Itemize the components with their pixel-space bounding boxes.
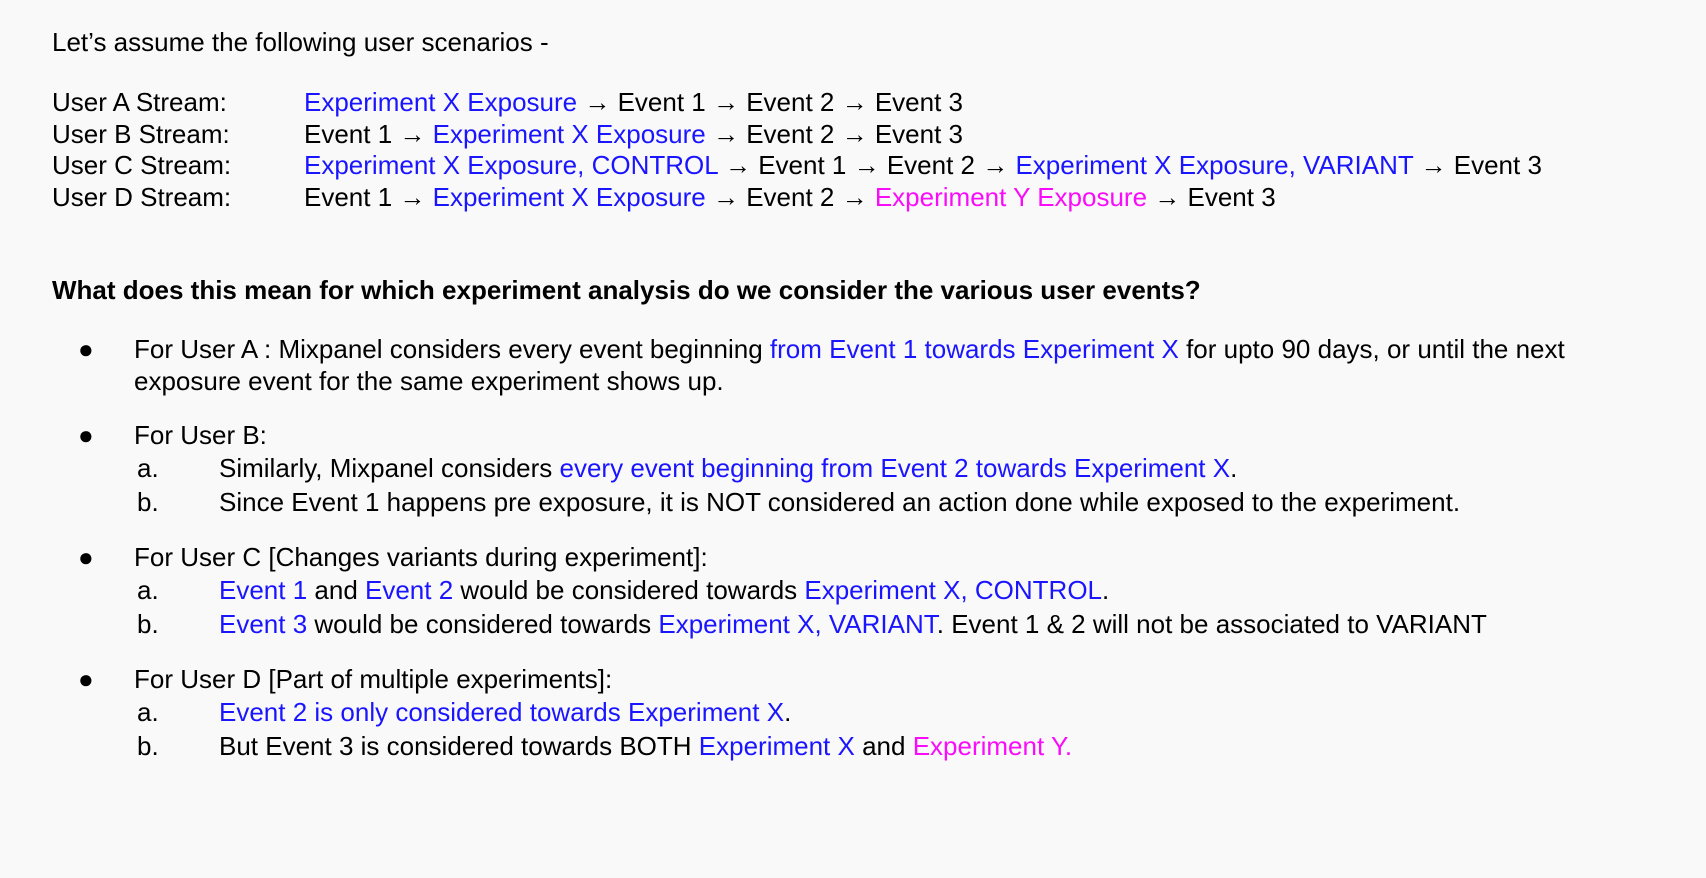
stream-0-segment-5: →: [834, 87, 874, 117]
section-heading: What does this mean for which experiment…: [52, 273, 1201, 307]
bullet-3-sub-1-segment-2: and: [855, 731, 913, 761]
stream-2-segment-2: Event 1: [758, 150, 846, 180]
stream-row: User D Stream:Event 1 → Experiment X Exp…: [52, 182, 1542, 214]
stream-row: User B Stream:Event 1 → Experiment X Exp…: [52, 119, 1542, 151]
bullet-row: ●For User B:: [52, 419, 1672, 451]
stream-0-segment-2: Event 1: [618, 87, 706, 117]
stream-1-segment-2: Experiment X Exposure: [433, 119, 706, 149]
bullet-2-sub-0-segment-1: and: [307, 575, 365, 605]
stream-2-segment-6: Experiment X Exposure, VARIANT: [1015, 150, 1413, 180]
bullet-3-sub-1-segment-3: Experiment Y.: [913, 731, 1072, 761]
sub-list-text: But Event 3 is considered towards BOTH E…: [219, 729, 1672, 763]
bullet-2-segment-0: For User C [Changes variants during expe…: [134, 542, 708, 572]
bullet-text: For User C [Changes variants during expe…: [134, 541, 1672, 573]
stream-2-segment-7: →: [1413, 150, 1453, 180]
stream-0-segment-3: →: [706, 87, 746, 117]
user-streams-list: User A Stream:Experiment X Exposure → Ev…: [52, 87, 1542, 213]
stream-row: User C Stream:Experiment X Exposure, CON…: [52, 150, 1542, 182]
stream-label: User C Stream:: [52, 150, 304, 182]
sub-list: a.Similarly, Mixpanel considers every ev…: [52, 451, 1672, 519]
bullet-1-sub-1-segment-0: Since Event 1 happens pre exposure, it i…: [219, 487, 1460, 517]
stream-label: User B Stream:: [52, 119, 304, 151]
stream-sequence: Experiment X Exposure → Event 1 → Event …: [304, 87, 963, 119]
bullet-marker-icon: ●: [52, 541, 134, 573]
bullet-block: ●For User C [Changes variants during exp…: [52, 541, 1672, 641]
bullet-text: For User D [Part of multiple experiments…: [134, 663, 1672, 695]
sub-list-text: Similarly, Mixpanel considers every even…: [219, 451, 1672, 485]
bullet-3-sub-1-segment-1: Experiment X: [699, 731, 855, 761]
bullet-2-sub-0-segment-0: Event 1: [219, 575, 307, 605]
stream-1-segment-3: →: [706, 119, 746, 149]
bullet-marker-icon: ●: [52, 663, 134, 695]
stream-sequence: Event 1 → Experiment X Exposure → Event …: [304, 182, 1276, 214]
sub-list-item: a.Event 1 and Event 2 would be considere…: [52, 573, 1672, 607]
sub-list-marker: b.: [52, 485, 219, 519]
bullet-0-segment-1: from Event 1 towards Experiment X: [770, 334, 1179, 364]
stream-2-segment-5: →: [975, 150, 1015, 180]
stream-3-segment-0: Event 1: [304, 182, 392, 212]
intro-line: Let’s assume the following user scenario…: [52, 25, 549, 59]
document-page: Let’s assume the following user scenario…: [0, 0, 1706, 878]
stream-sequence: Experiment X Exposure, CONTROL → Event 1…: [304, 150, 1542, 182]
bullet-2-sub-0-segment-4: Experiment X, CONTROL: [804, 575, 1102, 605]
analysis-bullet-list: ●For User A : Mixpanel considers every e…: [52, 333, 1672, 763]
bullet-block: ●For User A : Mixpanel considers every e…: [52, 333, 1672, 397]
sub-list-text: Event 2 is only considered towards Exper…: [219, 695, 1672, 729]
bullet-1-sub-0-segment-1: every event beginning from Event 2 towar…: [560, 453, 1231, 483]
stream-2-segment-8: Event 3: [1454, 150, 1542, 180]
bullet-2-sub-1-segment-3: . Event 1 & 2 will not be associated to …: [937, 609, 1487, 639]
bullet-3-sub-0-segment-0: Event 2 is only considered towards Exper…: [219, 697, 784, 727]
stream-3-segment-7: →: [1147, 182, 1187, 212]
bullet-3-sub-1-segment-0: But Event 3 is considered towards BOTH: [219, 731, 699, 761]
bullet-block: ●For User B:a.Similarly, Mixpanel consid…: [52, 419, 1672, 519]
bullet-3-sub-0-segment-1: .: [784, 697, 791, 727]
bullet-2-sub-0-segment-3: would be considered towards: [453, 575, 804, 605]
stream-label: User D Stream:: [52, 182, 304, 214]
bullet-2-sub-1-segment-0: Event 3: [219, 609, 307, 639]
stream-2-segment-3: →: [846, 150, 886, 180]
sub-list-text: Since Event 1 happens pre exposure, it i…: [219, 485, 1672, 519]
sub-list: a.Event 2 is only considered towards Exp…: [52, 695, 1672, 763]
stream-0-segment-1: →: [577, 87, 617, 117]
bullet-text: For User B:: [134, 419, 1672, 451]
stream-2-segment-0: Experiment X Exposure, CONTROL: [304, 150, 718, 180]
bullet-row: ●For User A : Mixpanel considers every e…: [52, 333, 1672, 397]
sub-list-marker: a.: [52, 695, 219, 729]
stream-3-segment-5: →: [834, 182, 874, 212]
sub-list: a.Event 1 and Event 2 would be considere…: [52, 573, 1672, 641]
sub-list-item: b.But Event 3 is considered towards BOTH…: [52, 729, 1672, 763]
bullet-marker-icon: ●: [52, 333, 134, 365]
sub-list-text: Event 3 would be considered towards Expe…: [219, 607, 1672, 641]
stream-1-segment-5: →: [834, 119, 874, 149]
stream-3-segment-6: Experiment Y Exposure: [875, 182, 1147, 212]
sub-list-item: a.Event 2 is only considered towards Exp…: [52, 695, 1672, 729]
stream-2-segment-4: Event 2: [887, 150, 975, 180]
bullet-1-segment-0: For User B:: [134, 420, 267, 450]
stream-3-segment-1: →: [392, 182, 432, 212]
stream-1-segment-0: Event 1: [304, 119, 392, 149]
stream-3-segment-2: Experiment X Exposure: [433, 182, 706, 212]
sub-list-item: b.Since Event 1 happens pre exposure, it…: [52, 485, 1672, 519]
stream-0-segment-0: Experiment X Exposure: [304, 87, 577, 117]
bullet-2-sub-1-segment-2: Experiment X, VARIANT: [658, 609, 936, 639]
stream-1-segment-4: Event 2: [746, 119, 834, 149]
sub-list-marker: b.: [52, 607, 219, 641]
stream-3-segment-8: Event 3: [1187, 182, 1275, 212]
bullet-0-segment-0: For User A : Mixpanel considers every ev…: [134, 334, 770, 364]
bullet-3-segment-0: For User D [Part of multiple experiments…: [134, 664, 612, 694]
sub-list-marker: a.: [52, 573, 219, 607]
stream-0-segment-6: Event 3: [875, 87, 963, 117]
stream-0-segment-4: Event 2: [746, 87, 834, 117]
bullet-block: ●For User D [Part of multiple experiment…: [52, 663, 1672, 763]
bullet-row: ●For User D [Part of multiple experiment…: [52, 663, 1672, 695]
sub-list-item: a.Similarly, Mixpanel considers every ev…: [52, 451, 1672, 485]
stream-2-segment-1: →: [718, 150, 758, 180]
bullet-1-sub-0-segment-2: .: [1230, 453, 1237, 483]
stream-3-segment-3: →: [706, 182, 746, 212]
bullet-1-sub-0-segment-0: Similarly, Mixpanel considers: [219, 453, 560, 483]
sub-list-item: b.Event 3 would be considered towards Ex…: [52, 607, 1672, 641]
bullet-row: ●For User C [Changes variants during exp…: [52, 541, 1672, 573]
stream-1-segment-1: →: [392, 119, 432, 149]
sub-list-marker: a.: [52, 451, 219, 485]
bullet-text: For User A : Mixpanel considers every ev…: [134, 333, 1672, 397]
bullet-2-sub-0-segment-5: .: [1102, 575, 1109, 605]
bullet-2-sub-1-segment-1: would be considered towards: [307, 609, 658, 639]
stream-sequence: Event 1 → Experiment X Exposure → Event …: [304, 119, 963, 151]
stream-row: User A Stream:Experiment X Exposure → Ev…: [52, 87, 1542, 119]
stream-1-segment-6: Event 3: [875, 119, 963, 149]
stream-3-segment-4: Event 2: [746, 182, 834, 212]
stream-label: User A Stream:: [52, 87, 304, 119]
bullet-2-sub-0-segment-2: Event 2: [365, 575, 453, 605]
sub-list-marker: b.: [52, 729, 219, 763]
bullet-marker-icon: ●: [52, 419, 134, 451]
sub-list-text: Event 1 and Event 2 would be considered …: [219, 573, 1672, 607]
